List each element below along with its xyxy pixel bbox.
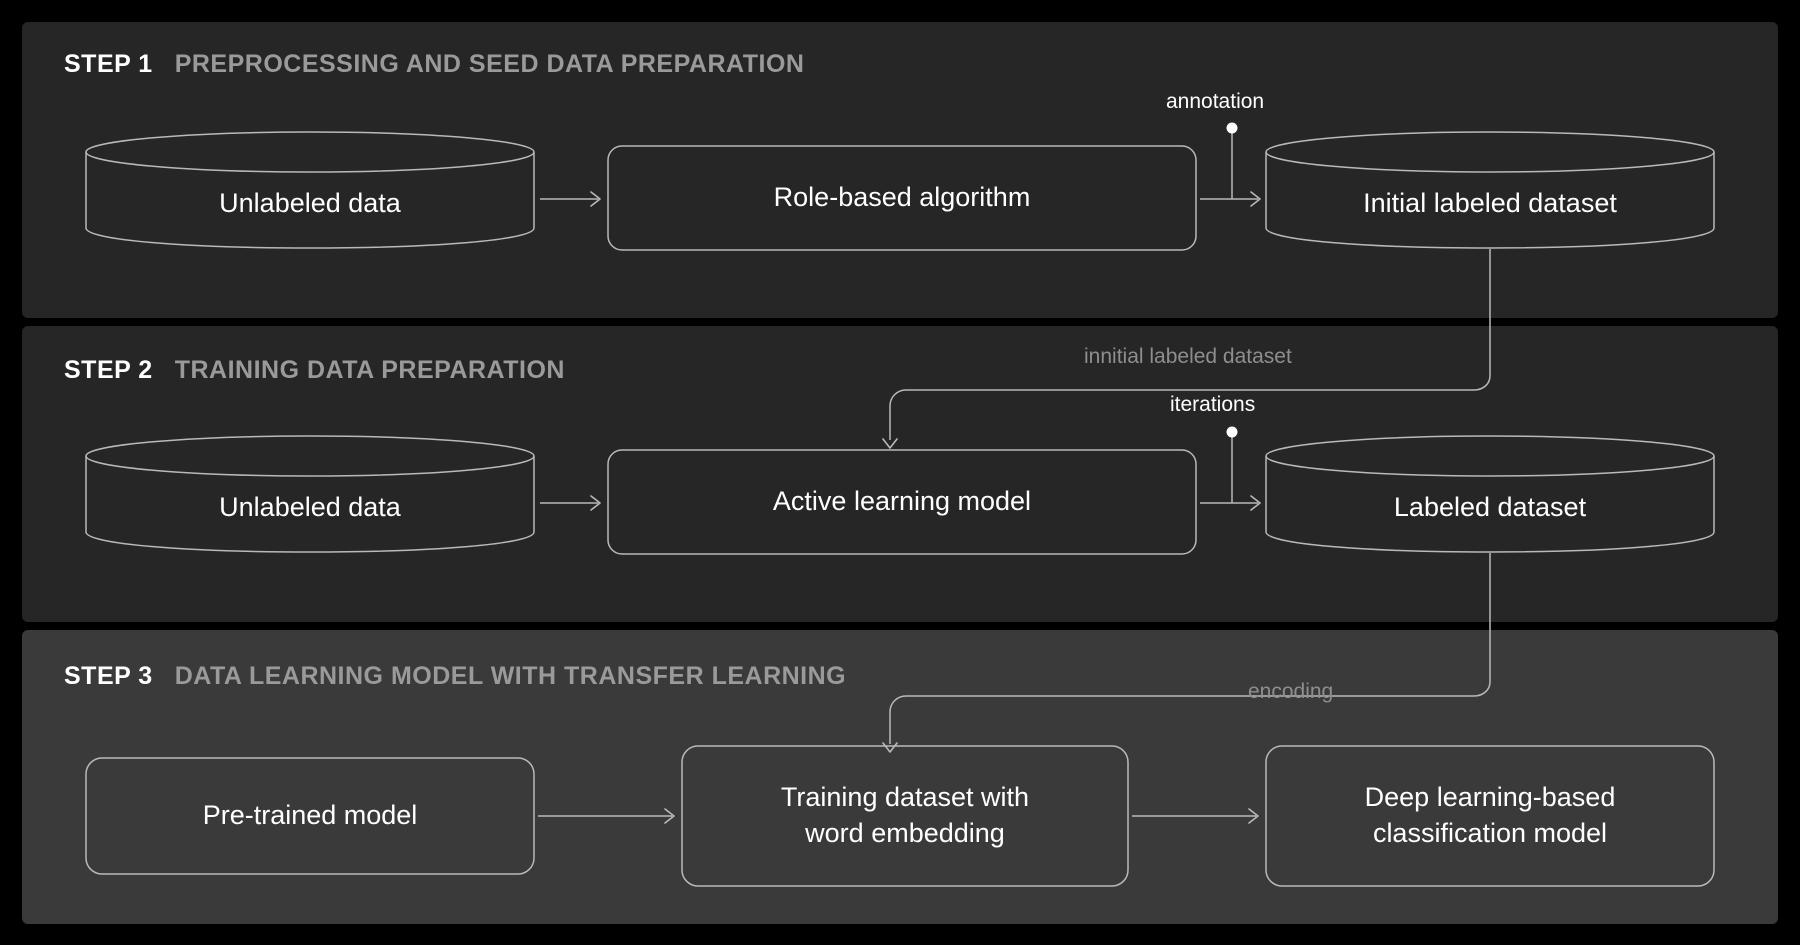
label-deep-learning-classification-model: Deep learning-based classification model	[1266, 746, 1714, 886]
label-role-based-algorithm: Role-based algorithm	[608, 146, 1196, 250]
diagram-canvas: STEP 1PREPROCESSING AND SEED DATA PREPAR…	[0, 0, 1800, 945]
edge-label-annotation: annotation	[1166, 90, 1264, 114]
label-pre-trained-model: Pre-trained model	[86, 758, 534, 874]
edge-label-innitial-labeled-dataset: innitial labeled dataset	[1084, 345, 1292, 369]
label-line-1: Training dataset with	[781, 780, 1029, 816]
step-3-title: DATA LEARNING MODEL WITH TRANSFER LEARNI…	[175, 662, 846, 690]
edge-label-encoding: encoding	[1248, 680, 1333, 704]
step-1-title: PREPROCESSING AND SEED DATA PREPARATION	[175, 50, 805, 78]
edge-label-iterations: iterations	[1170, 393, 1255, 417]
iterations-dot	[1227, 427, 1238, 438]
connector-labeled-to-training	[890, 553, 1490, 744]
step-2-title: TRAINING DATA PREPARATION	[175, 356, 565, 384]
label-line-2: word embedding	[805, 816, 1005, 852]
step-2-number: STEP 2	[64, 356, 153, 384]
step-3-number: STEP 3	[64, 662, 153, 690]
step-3-header: STEP 3DATA LEARNING MODEL WITH TRANSFER …	[64, 662, 846, 691]
annotation-dot	[1227, 123, 1238, 134]
step-2-header: STEP 2TRAINING DATA PREPARATION	[64, 356, 565, 385]
label-line-2: classification model	[1373, 816, 1607, 852]
label-labeled-dataset: Labeled dataset	[1266, 464, 1714, 552]
step-1-number: STEP 1	[64, 50, 153, 78]
label-training-dataset-word-embedding: Training dataset with word embedding	[682, 746, 1128, 886]
label-active-learning-model: Active learning model	[608, 450, 1196, 554]
label-unlabeled-data-1: Unlabeled data	[86, 160, 534, 248]
step-1-header: STEP 1PREPROCESSING AND SEED DATA PREPAR…	[64, 50, 804, 79]
label-initial-labeled-dataset: Initial labeled dataset	[1266, 160, 1714, 248]
label-unlabeled-data-2: Unlabeled data	[86, 464, 534, 552]
label-line-1: Deep learning-based	[1365, 780, 1616, 816]
